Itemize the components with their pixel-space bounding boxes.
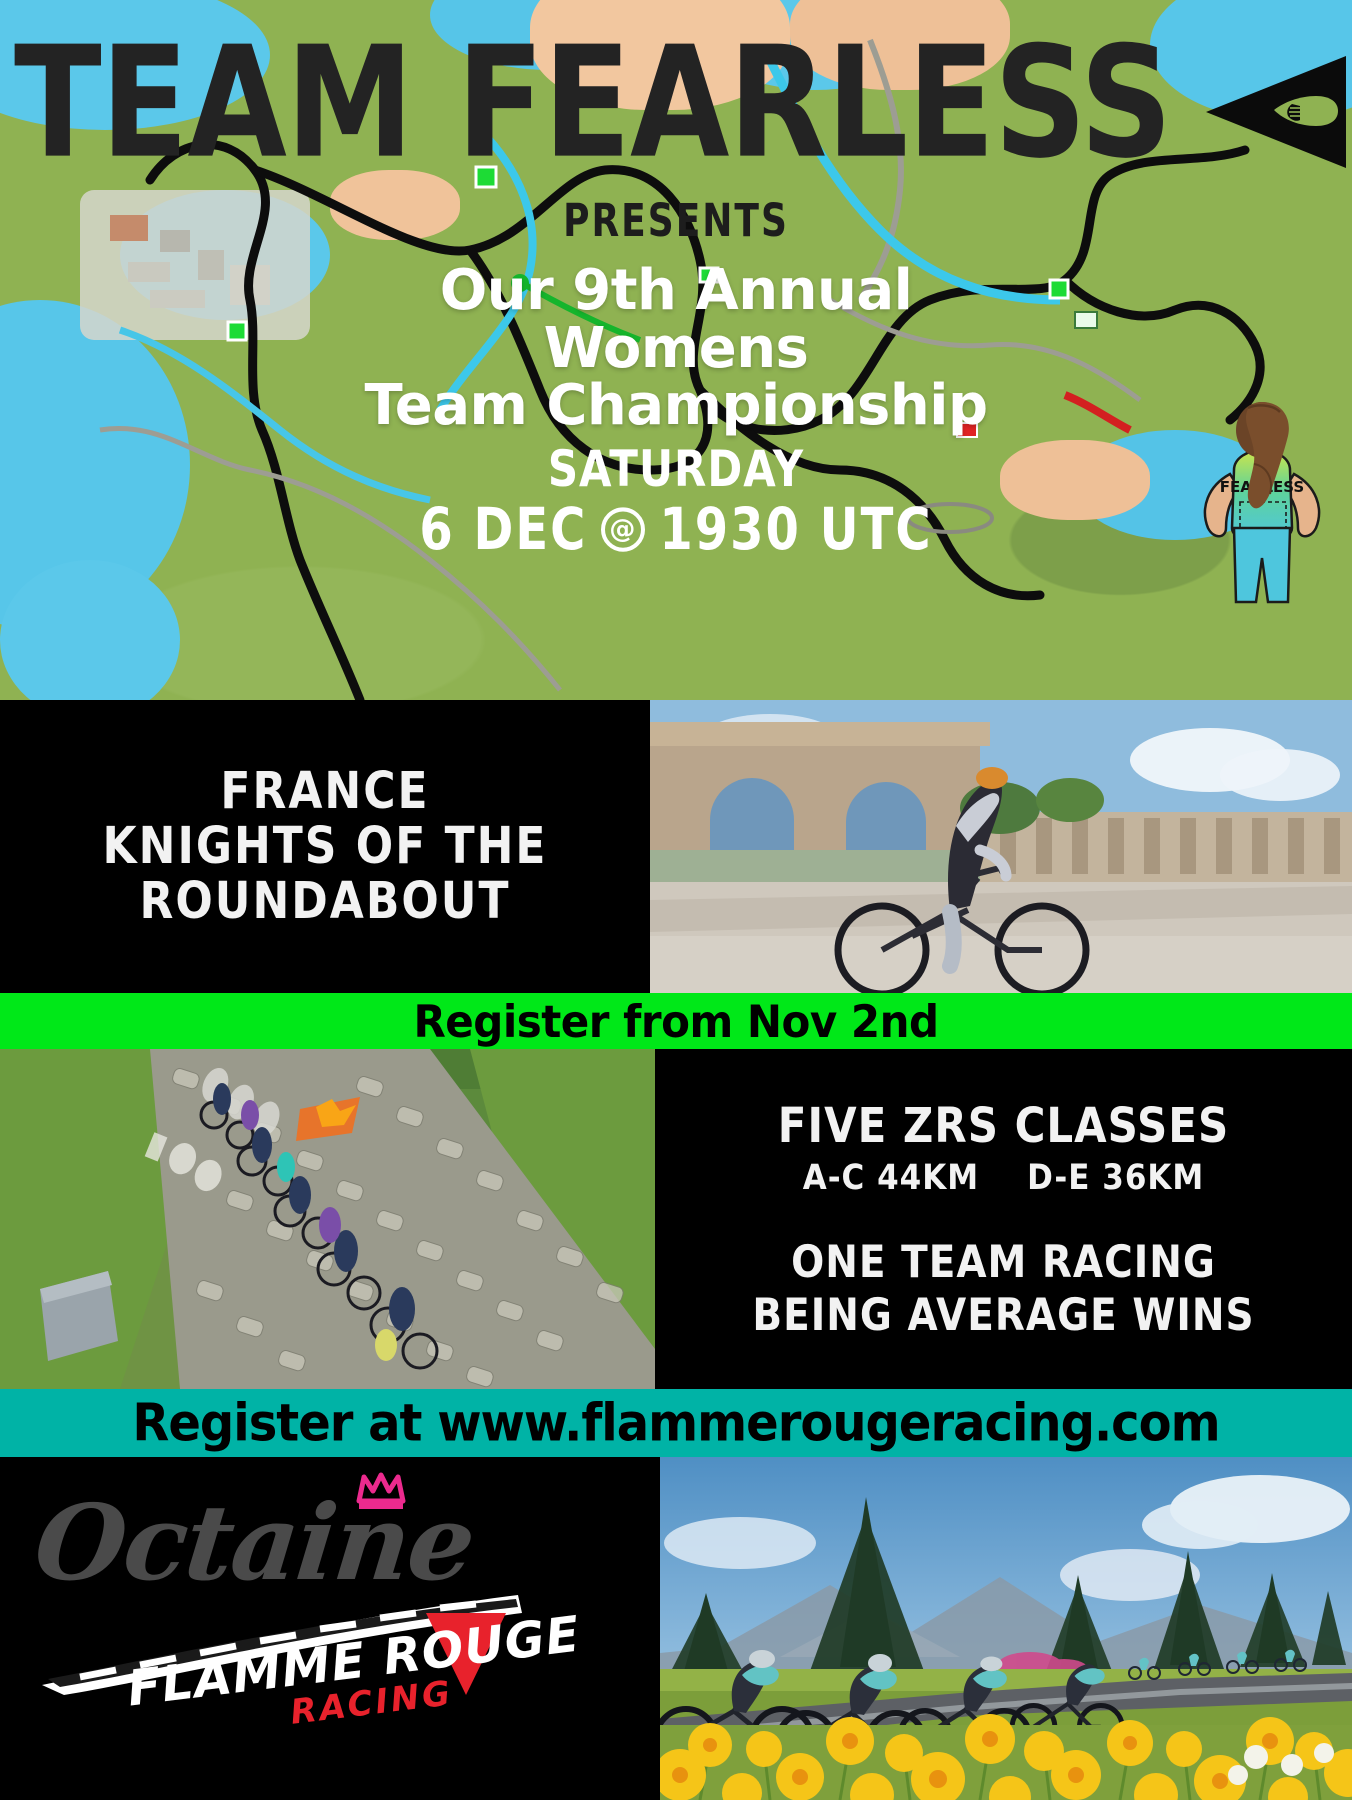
world-label: FRANCE [220, 762, 429, 821]
cobbles-photo [0, 1049, 655, 1389]
team-fearless-chevron-icon [1196, 52, 1346, 172]
register-date-banner[interactable]: Register from Nov 2nd [0, 993, 1352, 1049]
crown-icon [355, 1471, 407, 1511]
bridge-photo [650, 700, 1352, 993]
register-url-banner[interactable]: Register at www.flammerougeracing.com [0, 1389, 1352, 1457]
flowers-photo [660, 1457, 1352, 1800]
distances-row: A-C 44KM D-E 36KM [803, 1157, 1205, 1197]
avatar: FEARLESS [1182, 378, 1342, 606]
event-headline: Our 9th Annual Womens Team Championship [0, 262, 1352, 435]
sponsor-logo-box: Octaine FLAMME ROUGE RACING [0, 1457, 660, 1800]
format-line-1: ONE TEAM RACING [791, 1236, 1216, 1288]
register-date-text: Register from Nov 2nd [413, 995, 938, 1047]
route-name-line-1: KNIGHTS OF THE [103, 817, 548, 876]
headline-line-2: Womens [0, 320, 1352, 378]
headline-line-3: Team Championship [0, 377, 1352, 435]
event-time: 1930 UTC [659, 496, 932, 563]
at-symbol-icon: @ [601, 507, 645, 551]
event-day: SATURDAY [0, 440, 1352, 498]
race-info-box: FIVE ZRS CLASSES A-C 44KM D-E 36KM ONE T… [655, 1049, 1352, 1389]
format-line-2: BEING AVERAGE WINS [752, 1289, 1254, 1341]
route-name-line-2: ROUNDABOUT [139, 872, 510, 931]
event-date: 6 DEC [419, 496, 587, 563]
classes-heading: FIVE ZRS CLASSES [778, 1097, 1229, 1153]
event-datetime: 6 DEC @ 1930 UTC [0, 496, 1352, 563]
presents-label: PRESENTS [0, 196, 1352, 247]
hero-map-section: TEAM FEARLESS PRESENTS Our 9th Annual Wo… [0, 0, 1352, 700]
poster-title-wrap: TEAM FEARLESS [14, 30, 1144, 150]
page-title: TEAM FEARLESS [14, 30, 1167, 176]
distance-de: D-E 36KM [1027, 1157, 1204, 1197]
distance-ac: A-C 44KM [803, 1157, 979, 1197]
headline-line-1: Our 9th Annual [0, 262, 1352, 320]
race-poster: TEAM FEARLESS PRESENTS Our 9th Annual Wo… [0, 0, 1352, 1800]
route-info-box: FRANCE KNIGHTS OF THE ROUNDABOUT [0, 700, 650, 993]
register-url-text: Register at www.flammerougeracing.com [132, 1393, 1219, 1453]
